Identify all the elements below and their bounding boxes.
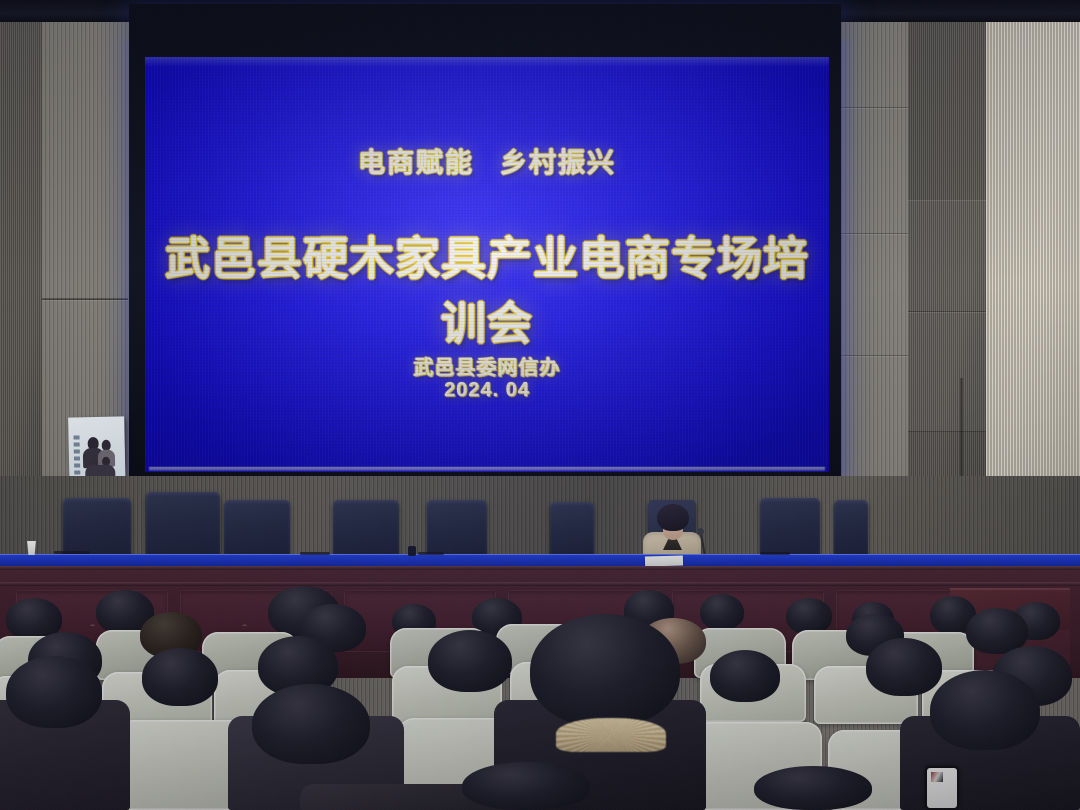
attendee-head [754,766,872,810]
presenter-hair [657,504,689,531]
attendee-head [462,762,590,810]
stage-chair-3 [224,500,290,556]
attendee-head [930,670,1040,750]
attendee-head [142,648,218,706]
slide-headline-right: 乡村振兴 [500,148,616,178]
slide-headline-left: 电商赋能 [358,148,474,178]
attendee-head [700,594,744,630]
attendee-head [866,638,942,696]
attendee-head [786,598,832,634]
table-item-d [760,552,790,555]
attendee-head [6,656,102,728]
attendee-head [252,684,370,764]
attendee-head [710,650,780,702]
table-item-c [418,552,444,555]
slide-date: 2024. 04 [145,379,829,402]
wall-panel-pillar-upper [908,200,986,312]
raised-phone[interactable] [925,766,959,810]
photograph-conference-hall: 电商赋能乡村振兴 武邑县硬木家具产业电商专场培训会 武邑县委网信办 2024. … [0,0,1080,810]
table-item-a [54,551,90,554]
slide-organizer: 武邑县委网信办 [145,351,829,380]
presentation-slide: 电商赋能乡村振兴 武邑县硬木家具产业电商专场培训会 武邑县委网信办 2024. … [145,57,829,472]
stage-chair-4 [333,500,399,556]
stage-chair-1 [63,498,131,556]
stage-chair-8 [834,500,868,556]
table-item-b [300,552,330,555]
poster-text-lines [74,435,81,479]
wall-panel-left-upper [42,0,128,300]
wall-panel-pillar-lower [908,312,986,432]
attendee-head [428,630,512,692]
presenter-documents [645,556,683,567]
stage-chair-7 [760,498,820,556]
stage-chair-2 [146,492,220,556]
slide-title: 武邑县硬木家具产业电商专场培训会 [145,222,829,352]
screen-bottom-highlight [149,467,825,471]
stage-chair-5 [427,500,487,556]
wall-seam [42,298,128,300]
phone-screen [927,768,957,808]
stage-chair-6 [550,502,594,556]
fur-trimmed-collar [556,718,666,752]
led-display: 电商赋能乡村振兴 武邑县硬木家具产业电商专场培训会 武邑县委网信办 2024. … [145,57,829,472]
microphone-head [697,528,704,535]
slide-headline: 电商赋能乡村振兴 [145,141,829,180]
attendee-head-large [530,614,680,726]
phone-thumbnail-image [931,772,943,782]
table-nameplate [408,546,416,556]
